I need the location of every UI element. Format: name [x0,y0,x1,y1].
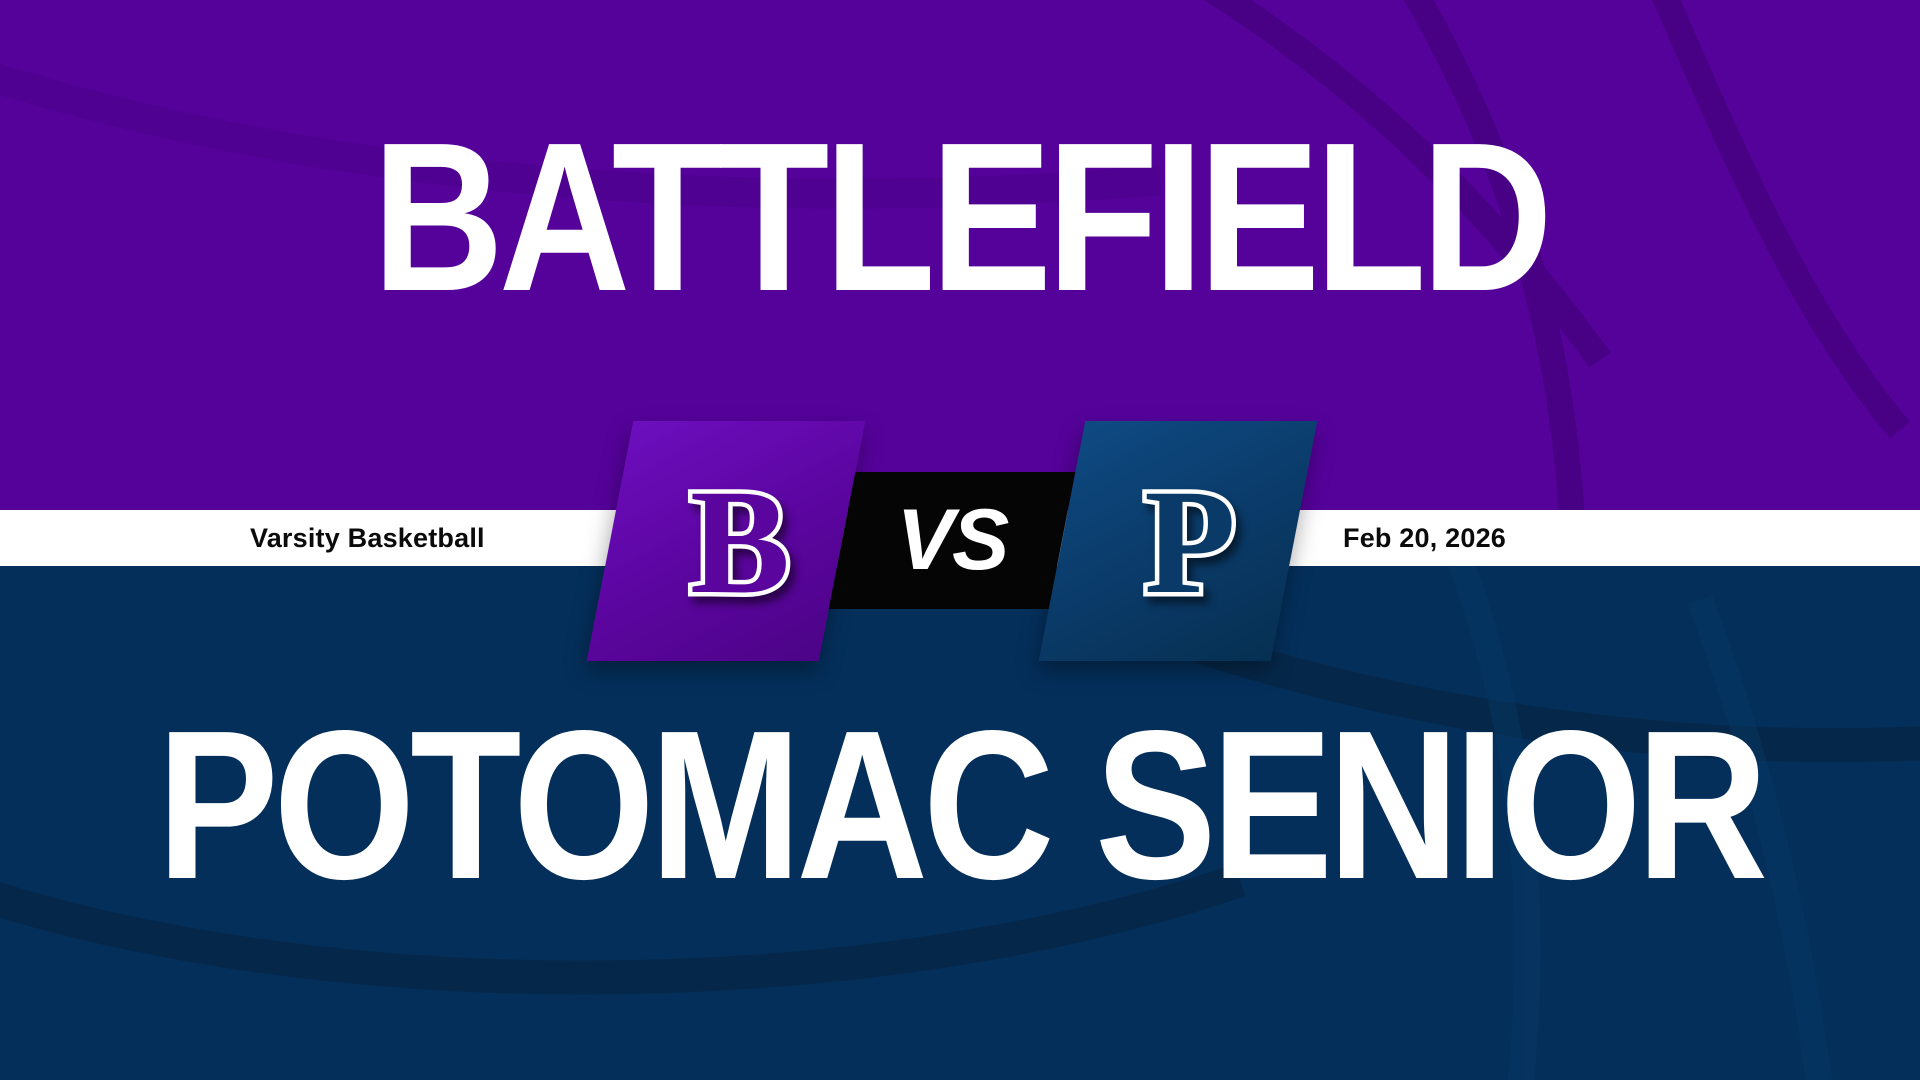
home-emblem-letter: B [650,452,830,632]
game-date: Feb 20, 2026 [1343,510,1506,566]
away-team-wordmark: POTOMAC SENIOR [134,712,1785,899]
sport-label: Varsity Basketball [250,510,485,566]
vs-label: VS [842,472,1062,609]
matchup-graphic: BATTLEFIELD Varsity Basketball Feb 20, 2… [0,0,1920,1080]
home-team-wordmark: BATTLEFIELD [134,124,1785,311]
away-emblem-letter: P [1100,452,1280,632]
